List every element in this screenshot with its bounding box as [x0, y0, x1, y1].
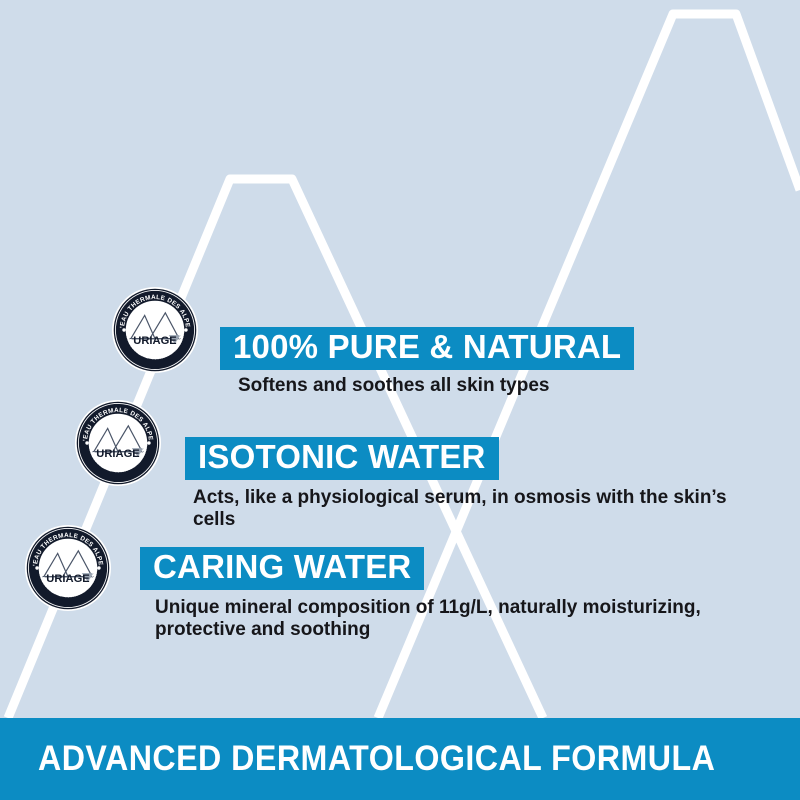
- uriage-badge: URIAGE L'EAU THERMALE DES ALPES FRENCH A…: [75, 400, 161, 486]
- feature-description-pure-natural: Softens and soothes all skin types: [238, 375, 634, 397]
- feature-description-caring-water: Unique mineral composition of 11g/L, nat…: [155, 597, 770, 642]
- feature-block-pure-natural: 100% PURE & NATURAL Softens and soothes …: [220, 327, 634, 397]
- feature-title-pure-natural: 100% PURE & NATURAL: [220, 327, 634, 370]
- feature-block-caring-water: CARING WATER Unique mineral composition …: [140, 547, 770, 642]
- infographic-poster: URIAGE L'EAU THERMALE DES ALPES FRENCH A…: [0, 0, 800, 800]
- feature-block-isotonic-water: ISOTONIC WATER Acts, like a physiologica…: [185, 437, 733, 532]
- feature-description-isotonic-water: Acts, like a physiological serum, in osm…: [193, 487, 733, 532]
- uriage-badge: URIAGE L'EAU THERMALE DES ALPES FRENCH A…: [25, 525, 111, 611]
- feature-title-isotonic-water: ISOTONIC WATER: [185, 437, 499, 480]
- badge-center-text: URIAGE: [96, 448, 140, 460]
- badge-center-text: URIAGE: [46, 573, 90, 585]
- bottom-banner: ADVANCED DERMATOLOGICAL FORMULA: [0, 718, 800, 800]
- badge-center-text: URIAGE: [133, 335, 177, 347]
- feature-title-caring-water: CARING WATER: [140, 547, 424, 590]
- bottom-banner-text: ADVANCED DERMATOLOGICAL FORMULA: [38, 739, 715, 779]
- uriage-badge: URIAGE L'EAU THERMALE DES ALPES FRENCH A…: [112, 287, 198, 373]
